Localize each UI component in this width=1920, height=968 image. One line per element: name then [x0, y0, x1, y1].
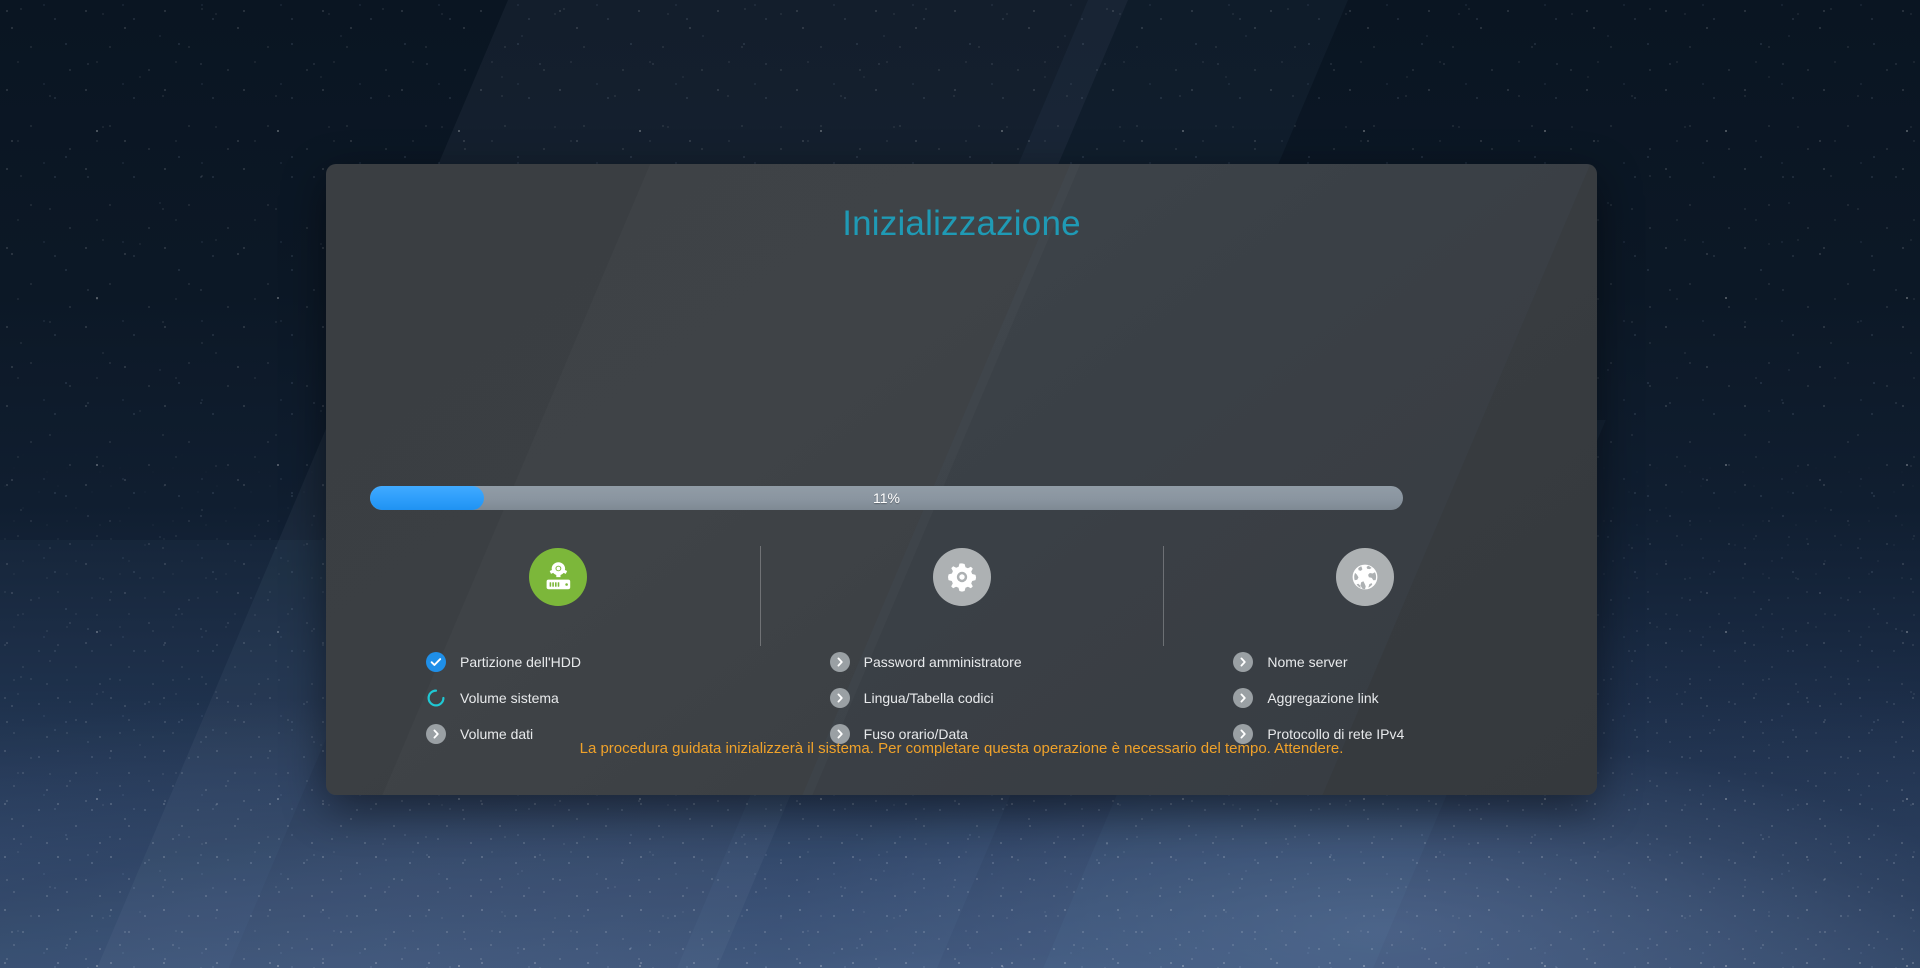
list-item[interactable]: Lingua/Tabella codici [830, 680, 1164, 716]
check-icon [426, 652, 446, 672]
progress-percent-label: 11% [370, 486, 1403, 510]
screen: Inizializzazione 11% [0, 0, 1920, 968]
list-item[interactable]: Password amministratore [830, 644, 1164, 680]
list-item[interactable]: Volume sistema [426, 680, 760, 716]
stage-item-list-network: Nome server Aggregazione link [1163, 644, 1567, 752]
status-note: La procedura guidata inizializzerà il si… [326, 740, 1597, 757]
stage-column-network: Nome server Aggregazione link [1163, 538, 1567, 752]
list-item-label: Volume sistema [460, 690, 559, 706]
chevron-right-icon [830, 688, 850, 708]
initialization-dialog: Inizializzazione 11% [326, 164, 1597, 795]
gear-icon [933, 548, 991, 606]
chevron-right-icon [1233, 652, 1253, 672]
list-item-label: Partizione dell'HDD [460, 654, 581, 670]
stage-item-list-storage: Partizione dell'HDD Volume sistema [356, 644, 760, 752]
list-item-label: Nome server [1267, 654, 1347, 670]
stage-item-list-system: Password amministratore Lingua/Tabella c… [760, 644, 1164, 752]
spinner-icon [426, 688, 446, 708]
chevron-right-icon [830, 652, 850, 672]
list-item-label: Lingua/Tabella codici [864, 690, 994, 706]
globe-icon [1336, 548, 1394, 606]
list-item[interactable]: Partizione dell'HDD [426, 644, 760, 680]
stage-columns: Partizione dell'HDD Volume sistema [356, 538, 1567, 752]
list-item-label: Aggregazione link [1267, 690, 1378, 706]
page-title: Inizializzazione [326, 204, 1597, 244]
list-item[interactable]: Nome server [1233, 644, 1567, 680]
stage-column-storage: Partizione dell'HDD Volume sistema [356, 538, 760, 752]
initialization-progress-bar: 11% [370, 486, 1403, 510]
hdd-gear-icon [529, 548, 587, 606]
list-item-label: Password amministratore [864, 654, 1022, 670]
list-item[interactable]: Aggregazione link [1233, 680, 1567, 716]
chevron-right-icon [1233, 688, 1253, 708]
stage-column-system: Password amministratore Lingua/Tabella c… [760, 538, 1164, 752]
